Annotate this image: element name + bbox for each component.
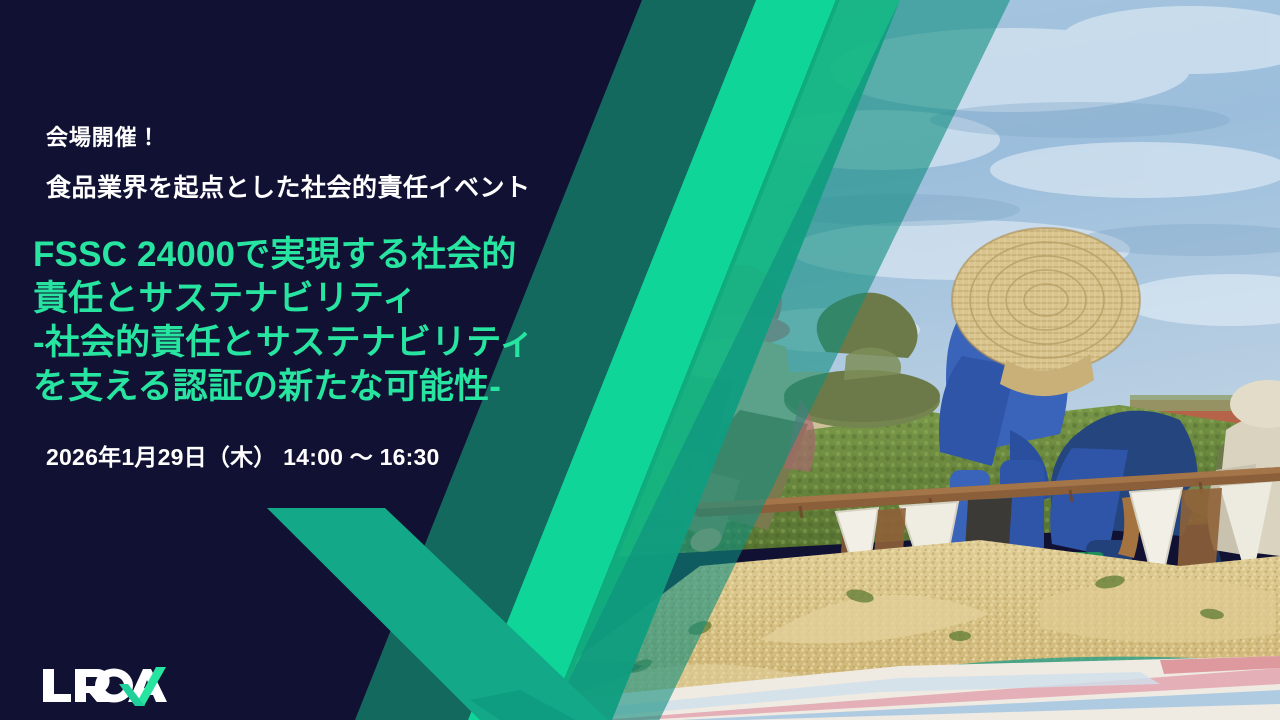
event-banner: 会場開催！ 食品業界を起点とした社会的責任イベント FSSC 24000で実現す… bbox=[0, 0, 1280, 720]
lrqa-logo[interactable] bbox=[40, 662, 170, 708]
subkicker-text: 食品業界を起点とした社会的責任イベント bbox=[46, 168, 531, 204]
kicker-text: 会場開催！ bbox=[46, 120, 160, 152]
headline-text: FSSC 24000で実現する社会的 責任とサステナビリティ -社会的責任とサス… bbox=[33, 233, 534, 409]
event-datetime: 2026年1月29日（木） 14:00 ～ 16:30 bbox=[46, 438, 440, 472]
